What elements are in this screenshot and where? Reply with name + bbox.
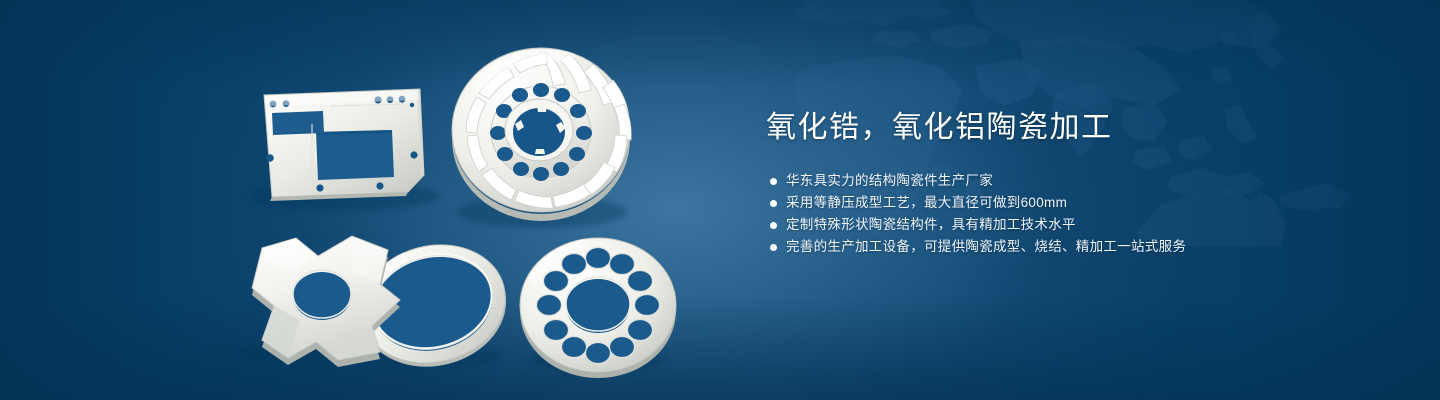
list-item: 定制特殊形状陶瓷结构件，具有精加工技术水平 — [770, 214, 1406, 236]
bullet-dot-icon — [770, 222, 777, 229]
feature-list: 华东具实力的结构陶瓷件生产厂家 采用等静压成型工艺，最大直径可做到600mm 定… — [770, 170, 1406, 258]
feature-text: 完善的生产加工设备，可提供陶瓷成型、烧结、精加工一站式服务 — [786, 236, 1186, 258]
bullet-dot-icon — [770, 178, 777, 185]
list-item: 完善的生产加工设备，可提供陶瓷成型、烧结、精加工一站式服务 — [770, 236, 1406, 258]
feature-text: 采用等静压成型工艺，最大直径可做到600mm — [786, 192, 1067, 214]
banner-copy: 氧化锆，氧化铝陶瓷加工 华东具实力的结构陶瓷件生产厂家 采用等静压成型工艺，最大… — [766, 108, 1406, 258]
bullet-dot-icon — [770, 244, 777, 251]
feature-text: 定制特殊形状陶瓷结构件，具有精加工技术水平 — [786, 214, 1076, 236]
list-item: 华东具实力的结构陶瓷件生产厂家 — [770, 170, 1406, 192]
bullet-dot-icon — [770, 200, 777, 207]
list-item: 采用等静压成型工艺，最大直径可做到600mm — [770, 192, 1406, 214]
promo-banner: 氧化锆，氧化铝陶瓷加工 华东具实力的结构陶瓷件生产厂家 采用等静压成型工艺，最大… — [0, 0, 1440, 400]
banner-headline: 氧化锆，氧化铝陶瓷加工 — [766, 108, 1406, 148]
feature-text: 华东具实力的结构陶瓷件生产厂家 — [786, 170, 993, 192]
